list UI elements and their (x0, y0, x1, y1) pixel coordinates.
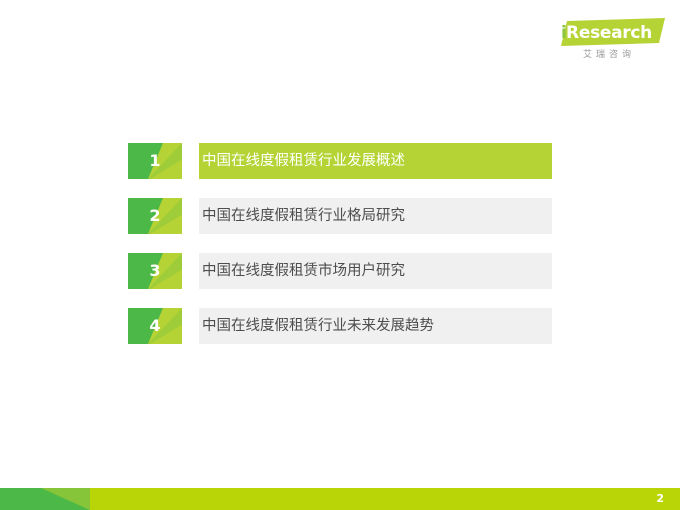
agenda-item-2[interactable]: 2 中国在线度假租赁行业格局研究 (128, 198, 552, 234)
logo-subtitle: 艾瑞咨询 (553, 48, 665, 62)
agenda-number-1: 1 (128, 143, 182, 179)
iresearch-logo: i Research 艾瑞咨询 (553, 16, 665, 68)
agenda-item-4[interactable]: 4 中国在线度假租赁行业未来发展趋势 (128, 308, 552, 344)
slide-canvas: i Research 艾瑞咨询 1 中国在线度假租赁行业发展概述 2 中国在线度… (0, 0, 680, 510)
agenda-label-4: 中国在线度假租赁行业未来发展趋势 (202, 308, 434, 344)
agenda-number-4: 4 (128, 308, 182, 344)
logo-initial: i (561, 21, 567, 45)
agenda-label-2: 中国在线度假租赁行业格局研究 (202, 198, 405, 234)
footer-bar: 2 (0, 488, 680, 510)
agenda-item-3[interactable]: 3 中国在线度假租赁市场用户研究 (128, 253, 552, 289)
logo-wordmark: Research (553, 20, 665, 46)
agenda-number-2: 2 (128, 198, 182, 234)
agenda-item-1[interactable]: 1 中国在线度假租赁行业发展概述 (128, 143, 552, 179)
agenda-number-3: 3 (128, 253, 182, 289)
agenda-list: 1 中国在线度假租赁行业发展概述 2 中国在线度假租赁行业格局研究 3 中国在线… (128, 143, 552, 363)
agenda-label-1: 中国在线度假租赁行业发展概述 (202, 143, 405, 179)
agenda-label-3: 中国在线度假租赁市场用户研究 (202, 253, 405, 289)
page-number: 2 (656, 488, 664, 510)
